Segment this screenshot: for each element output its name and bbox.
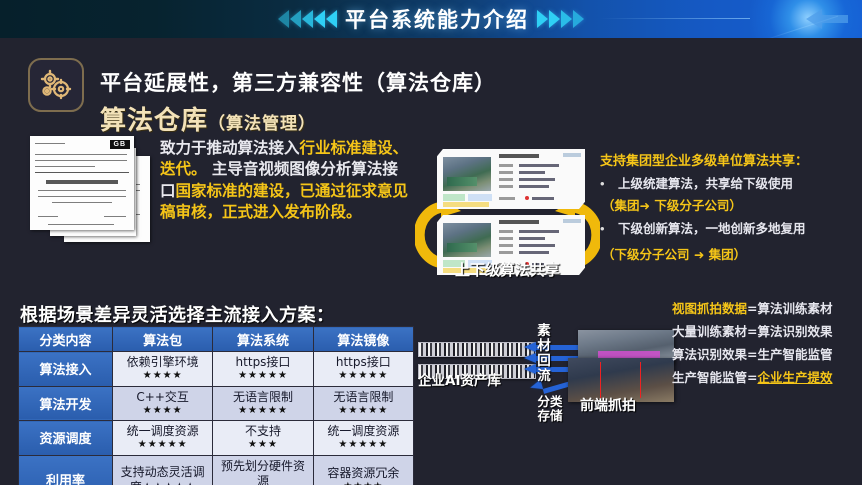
rating-stars: ★★★: [215, 439, 310, 452]
formula-eq: =: [747, 347, 757, 362]
share-bullet-note: （下级分子公司 ➜ 集团）: [602, 244, 858, 263]
heading-sub-title: 算法仓库: [100, 106, 208, 136]
formula-row: 视图抓拍数据=算法训练素材: [672, 301, 862, 316]
table-row: 算法开发 C++交互 ★★★★ 无语言限制 ★★★★★ 无语言限制 ★★★★★: [19, 386, 414, 421]
heading-sub: 算法仓库（算法管理）: [100, 100, 316, 137]
table-cell: 无语言限制 ★★★★★: [313, 386, 413, 421]
asset-library-label: 企业AI资产库: [418, 373, 513, 389]
body-paragraph: 致力于推动算法接入行业标准建设、迭代。 主导音视频图像分析算法接口国家标准的建设…: [160, 138, 410, 224]
table-cell: 依赖引擎环境 ★★★★: [113, 352, 213, 387]
rating-stars: ★★★★★: [115, 439, 210, 452]
bullet-dot-icon: •: [600, 221, 618, 236]
rating-stars: ★★★★★: [316, 439, 411, 452]
algorithm-detail-card-upper[interactable]: [437, 149, 585, 209]
formula-left: 生产智能监管: [672, 370, 747, 385]
row-label: 算法接入: [19, 352, 113, 387]
formula-left: 大量训练素材: [672, 324, 747, 339]
rating-stars: ★★★★★: [215, 370, 310, 383]
col-header-image: 算法镜像: [313, 327, 413, 352]
row-label: 利用率: [19, 455, 113, 485]
share-bullet-item: • 上级统建算法，共享给下级使用: [600, 176, 858, 192]
formula-eq: =: [747, 301, 757, 316]
rating-stars: ★★★★: [115, 405, 210, 418]
table-cell: 统一调度资源 ★★★★★: [113, 421, 213, 456]
value-chain-formulas: 视图抓拍数据=算法训练素材 大量训练素材=算法识别效果 算法识别效果=生产智能监…: [672, 301, 862, 393]
rating-stars: ★★★★★: [215, 405, 310, 418]
table-row: 算法接入 依赖引擎环境 ★★★★ https接口 ★★★★★ https接口 ★…: [19, 352, 414, 387]
col-header-package: 算法包: [113, 327, 213, 352]
heading-main: 平台延展性，第三方兼容性（算法仓库）: [100, 67, 496, 97]
share-bullet-note: （集团➜ 下级分子公司）: [602, 195, 858, 214]
table-cell: 无语言限制 ★★★★★: [213, 386, 313, 421]
col-header-category: 分类内容: [19, 327, 113, 352]
table-row: 利用率 支持动态灵活调度★★★★★ 预先划分硬件资源 ★★★ 容器资源冗余 ★★…: [19, 455, 414, 485]
capture-label: 前端抓拍: [580, 395, 636, 415]
server-rack-icon: [418, 342, 536, 357]
table-header-row: 分类内容 算法包 算法系统 算法镜像: [19, 327, 414, 352]
document-page-front: GB: [30, 136, 134, 230]
formula-right: 算法识别效果: [758, 324, 833, 339]
formula-right: 企业生产提效: [758, 370, 833, 385]
col-header-system: 算法系统: [213, 327, 313, 352]
table-section-title: 根据场景差异灵活选择主流接入方案：: [20, 301, 335, 327]
formula-left: 算法识别效果: [672, 347, 747, 362]
table-cell: https接口 ★★★★★: [213, 352, 313, 387]
backflow-label: 素材回流: [533, 324, 555, 384]
header-title-group: 平台系统能力介绍: [0, 0, 862, 38]
rating-stars: ★★★★: [115, 370, 210, 383]
standard-documents-stack: GB: [28, 136, 156, 244]
table-cell: 统一调度资源 ★★★★★: [313, 421, 413, 456]
formula-row: 大量训练素材=算法识别效果: [672, 324, 862, 339]
row-label: 算法开发: [19, 386, 113, 421]
table-cell: C++交互 ★★★★: [113, 386, 213, 421]
formula-right: 算法训练素材: [758, 301, 833, 316]
heading-sub-paren: （算法管理）: [208, 114, 316, 134]
share-block-title: 支持集团型企业多级单位算法共享：: [600, 150, 808, 169]
table-cell: https接口 ★★★★★: [313, 352, 413, 387]
rating-stars: ★★★★: [316, 481, 411, 485]
gears-icon: [28, 58, 84, 112]
comparison-table: 分类内容 算法包 算法系统 算法镜像 算法接入 依赖引擎环境 ★★★★ http…: [18, 326, 414, 485]
formula-left: 视图抓拍数据: [672, 301, 747, 316]
formula-row: 生产智能监管=企业生产提效: [672, 370, 862, 385]
formula-eq: =: [747, 370, 757, 385]
row-label: 资源调度: [19, 421, 113, 456]
share-bullet-item: • 下级创新算法，一地创新多地复用: [600, 221, 858, 237]
formula-row: 算法识别效果=生产智能监管: [672, 347, 862, 362]
page-title: 平台系统能力介绍: [345, 4, 529, 34]
share-block-bullets: • 上级统建算法，共享给下级使用 （集团➜ 下级分子公司） • 下级创新算法，一…: [600, 176, 858, 270]
bullet-dot-icon: •: [600, 176, 618, 191]
table-cell: 预先划分硬件资源 ★★★: [213, 455, 313, 485]
share-bullet-text: 上级统建算法，共享给下级使用: [618, 176, 793, 192]
rating-stars: ★★★★★: [316, 405, 411, 418]
chevrons-right-icon: [537, 10, 584, 28]
table-row: 资源调度 统一调度资源 ★★★★★ 不支持 ★★★ 统一调度资源 ★★★★★: [19, 421, 414, 456]
chevrons-left-icon: [278, 10, 337, 28]
storage-label: 分类存储: [533, 395, 567, 423]
share-diagram-caption: 上下级算法共享: [415, 262, 600, 279]
gears-icon-svg: [38, 69, 74, 101]
share-bullet-text: 下级创新算法，一地创新多地复用: [618, 221, 806, 237]
table-cell: 不支持 ★★★: [213, 421, 313, 456]
slide-header: 平台系统能力介绍: [0, 0, 862, 38]
rating-stars: ★★★★★: [316, 370, 411, 383]
para-line2-highlight: 国家标准的建设，已通过征求意见稿审核，正式进入发布阶段。: [160, 182, 408, 221]
gb-standard-badge: GB: [110, 140, 131, 149]
slide-body: 平台延展性，第三方兼容性（算法仓库） 算法仓库（算法管理） GB: [0, 38, 862, 485]
table-cell: 容器资源冗余 ★★★★: [313, 455, 413, 485]
para-line1-plain: 致力于推动算法接入: [160, 139, 300, 157]
formula-eq: =: [747, 324, 757, 339]
table-cell: 支持动态灵活调度★★★★★: [113, 455, 213, 485]
formula-right: 生产智能监管: [758, 347, 833, 362]
